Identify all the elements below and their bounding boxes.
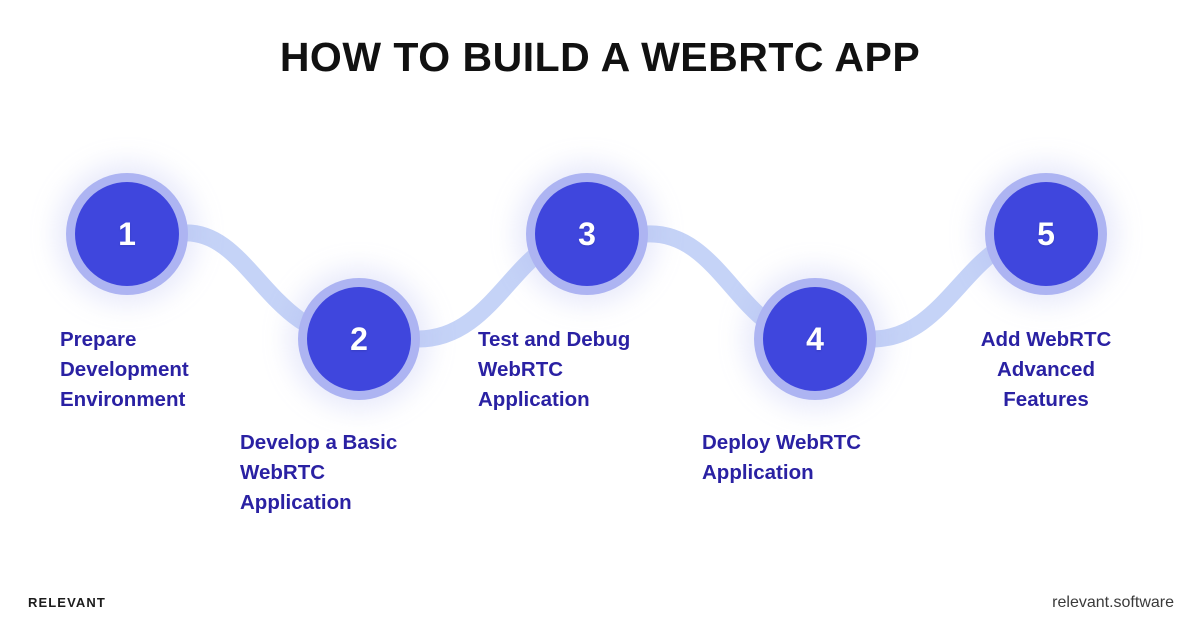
step-1-bubble[interactable]: 1: [66, 173, 188, 295]
steps-group: 1 Prepare Development Environment 2 Deve…: [0, 0, 1200, 639]
step-2-label: Develop a Basic WebRTC Application: [240, 428, 490, 518]
footer-website-url[interactable]: relevant.software: [1052, 594, 1174, 612]
step-2-bubble[interactable]: 2: [298, 278, 420, 400]
step-3-bubble[interactable]: 3: [526, 173, 648, 295]
step-5-bubble[interactable]: 5: [985, 173, 1107, 295]
step-2-bubble-core: 2: [307, 287, 411, 391]
step-1-number: 1: [118, 218, 136, 250]
footer-brand-logo: RELEVANT: [28, 595, 106, 610]
step-4-label: Deploy WebRTC Application: [702, 428, 952, 488]
step-4-bubble[interactable]: 4: [754, 278, 876, 400]
step-5-number: 5: [1037, 218, 1055, 250]
step-1-label: Prepare Development Environment: [60, 325, 290, 415]
step-3-bubble-core: 3: [535, 182, 639, 286]
infographic-canvas: HOW TO BUILD A WEBRTC APP 1 Prepare Deve…: [0, 0, 1200, 639]
step-4-bubble-core: 4: [763, 287, 867, 391]
step-2-number: 2: [350, 323, 368, 355]
step-5-label: Add WebRTC Advanced Features: [940, 325, 1152, 415]
step-1-bubble-core: 1: [75, 182, 179, 286]
step-3-label: Test and Debug WebRTC Application: [478, 325, 718, 415]
step-3-number: 3: [578, 218, 596, 250]
step-5-bubble-core: 5: [994, 182, 1098, 286]
step-4-number: 4: [806, 323, 824, 355]
